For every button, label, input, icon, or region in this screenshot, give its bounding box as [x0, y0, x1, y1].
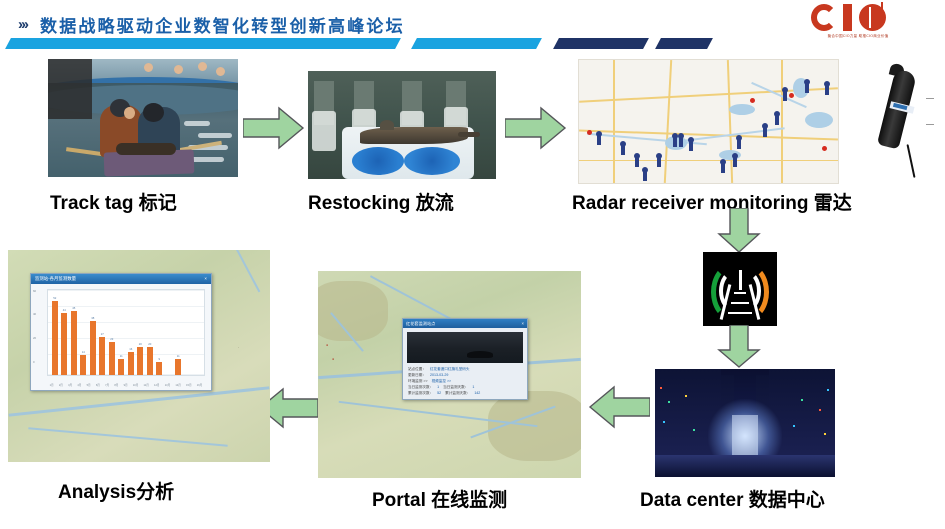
map-road: [579, 160, 838, 161]
bar-12: 9: [156, 362, 162, 375]
bar-6: 27: [99, 337, 105, 375]
server-rack: [787, 369, 809, 461]
x-tick-label: 12月: [154, 383, 159, 387]
server-rack: [681, 369, 703, 461]
rack-led: [663, 421, 665, 423]
bar-value-label: 20: [148, 342, 151, 346]
map-lake: [805, 112, 833, 128]
x-tick-label: 6月: [96, 383, 100, 387]
bar-3: 45: [71, 311, 77, 375]
arrow-step3-to-antenna: [717, 208, 761, 254]
detail-key: 累计监测天数：: [445, 390, 470, 396]
caption-analysis: Analysis分析: [58, 477, 174, 504]
scale-tick-icon: [926, 98, 934, 99]
page-title: 数据战略驱动企业数智化转型创新高峰论坛: [40, 12, 405, 37]
photo-sturgeon-release: [308, 71, 496, 179]
y-axis-tick: 20: [33, 336, 36, 340]
receiver-cable: [906, 144, 915, 178]
caption-data-center: Data center 数据中心: [640, 485, 825, 512]
map-receiver-stations: [578, 59, 839, 184]
map-label: ●: [326, 343, 328, 347]
rack-led: [668, 401, 670, 403]
map-road: [664, 60, 672, 183]
photo-server-room: [655, 369, 835, 477]
sturgeon-fin: [380, 120, 394, 130]
onlooker: [144, 63, 153, 72]
page-header: ››› 数据战略驱动企业数智化转型创新高峰论坛 聚合中国CIO力量 助推CIO商…: [0, 0, 945, 52]
portal-dialog-title: 红花套监测站点: [406, 319, 435, 328]
map-analysis-chart: · 监测站-各月监测数量 × 5244451438272311162020911…: [8, 250, 270, 462]
x-axis-ticks: 1月2月3月4月5月6月7月8月9月10月11月12月13月14月15月16月: [47, 383, 205, 387]
map-label: ·: [238, 346, 239, 350]
map-road: [781, 60, 783, 183]
chevron-right-icon: ›››: [18, 16, 27, 33]
x-tick-label: 8月: [114, 383, 118, 387]
bar-1: 52: [52, 301, 58, 375]
station-pin[interactable]: [597, 134, 601, 145]
portal-station-dialog[interactable]: 红花套监测站点 × 站点位置： 红花套渡口红旗礼堂码头 更新日期： 2013-0…: [402, 318, 528, 400]
analysis-window-titlebar: 监测站-各月监测数量 ×: [31, 274, 211, 284]
bar-10: 20: [137, 347, 143, 375]
logo-tagline: 聚合中国CIO力量 助推CIO商业价值: [809, 34, 907, 39]
close-icon[interactable]: ×: [522, 319, 524, 328]
spillway-foam: [312, 111, 336, 151]
onlooker: [216, 67, 225, 76]
arrow-step1-to-step2: [243, 106, 305, 150]
bar-series: 5244451438272311162020911: [48, 290, 204, 375]
rack-led: [793, 425, 795, 427]
station-pin[interactable]: [689, 140, 693, 151]
station-pin[interactable]: [763, 126, 767, 137]
header-stripe-4: [655, 38, 713, 49]
station-pin[interactable]: [657, 156, 661, 167]
x-tick-label: 11月: [144, 383, 149, 387]
researcher-left-face: [124, 107, 135, 119]
bar-value-label: 16: [129, 347, 132, 351]
station-pin[interactable]: [805, 82, 809, 93]
rack-led: [685, 395, 687, 397]
blue-basin-right: [404, 147, 460, 175]
portal-dialog-titlebar: 红花套监测站点 ×: [403, 319, 527, 328]
blue-basin-left: [352, 147, 404, 175]
x-tick-label: 3月: [68, 383, 72, 387]
bar-value-label: 11: [120, 354, 123, 358]
station-pin[interactable]: [721, 162, 725, 173]
rack-led: [819, 409, 821, 411]
server-rack: [809, 369, 835, 461]
rack-led: [801, 399, 803, 401]
detail-key: 累计监测次数：: [408, 390, 433, 396]
rack-led: [660, 387, 662, 389]
x-tick-label: 2月: [59, 383, 63, 387]
alert-marker[interactable]: [750, 98, 755, 103]
cio-logo: 聚合中国CIO力量 助推CIO商业价值: [809, 4, 907, 46]
logo-letter-i-icon: [843, 4, 852, 31]
terrain-patch: [318, 281, 388, 341]
bar-5: 38: [90, 321, 96, 375]
x-tick-label: 13月: [165, 383, 170, 387]
analysis-chart-window[interactable]: 监测站-各月监测数量 × 5244451438272311162020911 6…: [30, 273, 212, 391]
portal-dialog-details: 站点位置： 红花套渡口红旗礼堂码头 更新日期： 2013-03-29 环境监测 …: [403, 363, 527, 396]
map-portal-dialog: ● ● 红花套监测站点 × 站点位置： 红花套渡口红旗礼堂码头 更新日期： 20…: [318, 271, 581, 478]
rack-led: [824, 433, 826, 435]
y-axis-tick: 0: [33, 360, 35, 364]
map-road: [613, 60, 615, 183]
rack-led: [827, 389, 829, 391]
alert-marker[interactable]: [822, 146, 827, 151]
tower-mast: [739, 270, 742, 290]
tower-crossbar: [728, 312, 752, 314]
bar-7: 23: [109, 342, 115, 375]
station-pin[interactable]: [643, 170, 647, 181]
detail-value: 52: [437, 390, 441, 396]
close-icon[interactable]: ×: [204, 274, 207, 284]
x-tick-label: 14月: [175, 383, 180, 387]
reflective-floor: [655, 455, 835, 477]
rack-led: [693, 429, 695, 431]
onlooker: [198, 62, 207, 71]
bar-value-label: 14: [82, 350, 85, 354]
detail-row: 累计监测次数： 52 累计监测天数： 142: [408, 390, 522, 396]
caption-track-tag: Track tag 标记: [50, 188, 177, 215]
arrow-step2-to-step3: [505, 106, 567, 150]
bar-value-label: 23: [110, 337, 113, 341]
station-pin[interactable]: [825, 84, 829, 95]
station-pin[interactable]: [783, 90, 787, 101]
header-stripe-3: [553, 38, 649, 49]
station-pin[interactable]: [737, 138, 741, 149]
water-splash: [184, 121, 210, 126]
bar-14: 11: [175, 359, 181, 375]
tower-crossbar: [734, 292, 746, 294]
alert-marker[interactable]: [587, 130, 592, 135]
bar-8: 11: [118, 359, 124, 375]
caption-radar-receiver: Radar receiver monitoring 雷达: [572, 188, 852, 215]
bar-value-label: 20: [139, 342, 142, 346]
header-stripe-1: [5, 38, 401, 49]
boat-silhouette: [467, 351, 493, 358]
bar-value-label: 44: [63, 308, 66, 312]
logo-letter-c-icon: [811, 4, 837, 31]
detail-value: 142: [474, 390, 480, 396]
server-rack: [655, 369, 681, 461]
station-pin[interactable]: [775, 114, 779, 125]
caption-restocking: Restocking 放流: [308, 188, 454, 215]
map-road: [727, 60, 733, 183]
bar-2: 44: [61, 313, 67, 375]
station-pin[interactable]: [733, 156, 737, 167]
x-tick-label: 16月: [197, 383, 202, 387]
x-tick-label: 5月: [87, 383, 91, 387]
tagged-fish: [116, 143, 176, 155]
water-splash: [198, 133, 232, 138]
bar-4: 14: [80, 355, 86, 375]
bar-value-label: 52: [53, 296, 56, 300]
corridor-door: [732, 415, 758, 455]
bar-value-label: 45: [72, 306, 75, 310]
bar-value-label: 27: [101, 332, 104, 336]
y-axis-tick: 40: [33, 312, 36, 316]
station-pin[interactable]: [673, 136, 677, 147]
arrow-antenna-to-datacenter: [717, 325, 761, 369]
sturgeon-snout: [458, 132, 480, 137]
bar-value-label: 11: [177, 354, 180, 358]
alert-marker[interactable]: [789, 93, 794, 98]
map-lake: [729, 104, 755, 115]
photo-acoustic-receiver: [860, 62, 940, 182]
icon-radio-tower: [703, 252, 777, 326]
sturgeon: [360, 127, 468, 144]
cio-logo-mark: [809, 4, 907, 32]
bar-9: 16: [128, 352, 134, 375]
bar-value-label: 9: [158, 357, 160, 361]
portal-dialog-photo: [407, 332, 523, 363]
station-pin[interactable]: [679, 136, 683, 147]
logo-tick-icon: [881, 2, 883, 14]
scale-tick-icon: [926, 124, 934, 125]
map-label: ●: [332, 357, 334, 361]
bar-value-label: 38: [91, 316, 94, 320]
analysis-window-title: 监测站-各月监测数量: [35, 274, 76, 284]
station-pin[interactable]: [621, 144, 625, 155]
researcher-right-head: [143, 103, 164, 122]
x-tick-label: 4月: [77, 383, 81, 387]
tower-crossbar: [731, 302, 749, 304]
foreground-silhouette: [48, 59, 92, 119]
arrow-datacenter-to-portal: [588, 385, 650, 429]
station-pin[interactable]: [635, 156, 639, 167]
x-tick-label: 7月: [105, 383, 109, 387]
x-tick-label: 10月: [133, 383, 138, 387]
x-tick-label: 15月: [186, 383, 191, 387]
bar-11: 20: [147, 347, 153, 375]
caption-portal: Portal 在线监测: [372, 485, 507, 512]
x-tick-label: 1月: [50, 383, 54, 387]
photo-fish-tagging: [48, 59, 238, 177]
onlooker: [174, 65, 183, 74]
y-axis-tick: 60: [33, 289, 36, 293]
bar-chart-plot-area: 5244451438272311162020911: [47, 289, 205, 376]
x-tick-label: 9月: [124, 383, 128, 387]
header-stripe-2: [411, 38, 542, 49]
